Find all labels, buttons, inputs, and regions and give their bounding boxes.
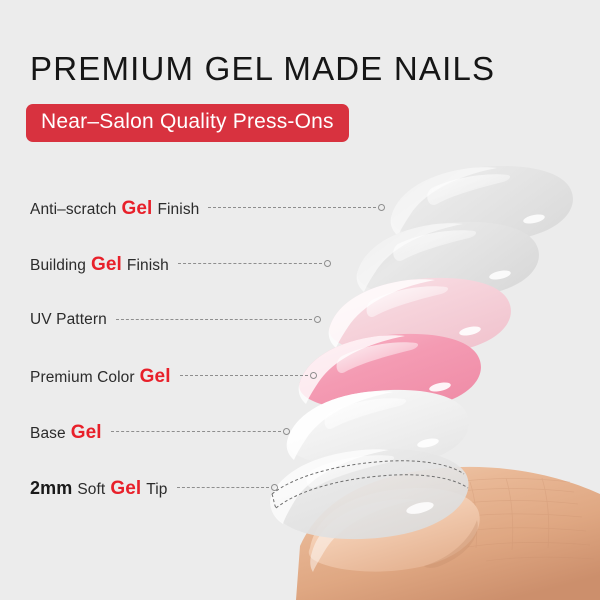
leader-endpoint-dot <box>324 260 331 267</box>
leader-endpoint-dot <box>314 316 321 323</box>
subtitle-badge: Near–Salon Quality Press-Ons <box>26 104 349 142</box>
callout-2mm-soft-gel-tip: 2mmSoftGelTip <box>30 476 269 500</box>
leader-line <box>111 431 281 433</box>
gel-keyword: Gel <box>122 199 153 218</box>
callout-label: Premium ColorGel <box>30 367 171 386</box>
label-word: Finish <box>157 202 199 218</box>
label-word: Anti–scratch <box>30 202 117 218</box>
gel-keyword: Gel <box>140 367 171 386</box>
label-word: Base <box>30 426 66 442</box>
callout-label: BaseGel <box>30 423 102 442</box>
poster-canvas: PREMIUM GEL MADE NAILS Near–Salon Qualit… <box>0 0 600 600</box>
leader-endpoint-dot <box>271 484 278 491</box>
leader-line <box>116 319 312 321</box>
callout-anti-scratch-gel-finish: Anti–scratchGelFinish <box>30 196 376 220</box>
callout-uv-pattern: UV Pattern <box>30 308 312 332</box>
label-word: UV Pattern <box>30 312 107 328</box>
gel-keyword: Gel <box>71 423 102 442</box>
label-word: 2mm <box>30 479 72 497</box>
leader-endpoint-dot <box>310 372 317 379</box>
callout-premium-color-gel: Premium ColorGel <box>30 364 308 388</box>
label-word: Tip <box>146 482 167 498</box>
callout-label: UV Pattern <box>30 312 107 328</box>
callout-base-gel: BaseGel <box>30 420 281 444</box>
label-word: Finish <box>127 258 169 274</box>
callout-label: BuildingGelFinish <box>30 255 169 274</box>
callout-building-gel-finish: BuildingGelFinish <box>30 252 322 276</box>
label-word: Premium Color <box>30 370 135 386</box>
page-title: PREMIUM GEL MADE NAILS <box>30 50 495 88</box>
leader-line <box>180 375 308 377</box>
callout-label: 2mmSoftGelTip <box>30 479 168 498</box>
gel-keyword: Gel <box>91 255 122 274</box>
gel-keyword: Gel <box>110 479 141 498</box>
leader-line <box>208 207 376 209</box>
callout-label: Anti–scratchGelFinish <box>30 199 199 218</box>
nail-layer-artwork <box>0 0 600 600</box>
label-word: Soft <box>77 482 105 498</box>
leader-endpoint-dot <box>283 428 290 435</box>
leader-line <box>178 263 322 265</box>
label-word: Building <box>30 258 86 274</box>
leader-line <box>177 487 269 489</box>
